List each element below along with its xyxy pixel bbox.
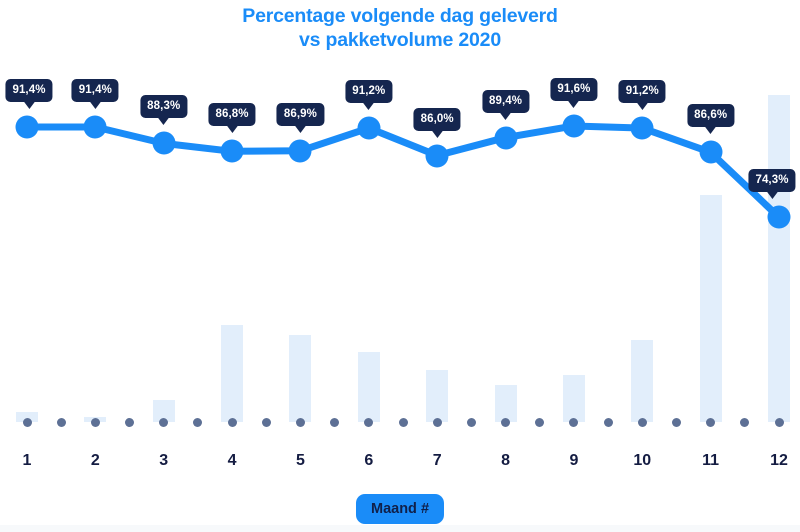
- line-marker-month-5: [289, 139, 312, 162]
- line-marker-month-6: [357, 117, 380, 140]
- value-callout-month-5: 86,9%: [277, 103, 324, 126]
- value-callout-month-1: 91,4%: [5, 79, 52, 102]
- x-tick-2: 2: [91, 452, 100, 470]
- chart-title-line-2: vs pakketvolume 2020: [0, 28, 800, 52]
- value-callout-month-6: 91,2%: [345, 80, 392, 103]
- chart-title: Percentage volgende dag geleverd vs pakk…: [0, 4, 800, 52]
- x-tick-4: 4: [228, 452, 237, 470]
- value-callout-month-12: 74,3%: [748, 169, 795, 192]
- line-marker-month-4: [221, 140, 244, 163]
- line-marker-month-11: [699, 141, 722, 164]
- x-axis-tick-labels: 123456789101112: [0, 452, 800, 476]
- value-callout-month-7: 86,0%: [414, 108, 461, 131]
- x-tick-10: 10: [633, 452, 651, 470]
- x-tick-9: 9: [569, 452, 578, 470]
- value-callout-month-8: 89,4%: [482, 90, 529, 113]
- value-callout-month-2: 91,4%: [72, 79, 119, 102]
- line-marker-month-1: [16, 116, 39, 139]
- value-callout-month-3: 88,3%: [140, 95, 187, 118]
- line-marker-month-3: [152, 132, 175, 155]
- x-tick-6: 6: [364, 452, 373, 470]
- x-tick-8: 8: [501, 452, 510, 470]
- line-marker-month-12: [768, 206, 791, 229]
- x-tick-3: 3: [159, 452, 168, 470]
- x-tick-1: 1: [23, 452, 32, 470]
- line-marker-month-7: [426, 144, 449, 167]
- x-tick-11: 11: [702, 452, 719, 470]
- line-marker-month-10: [631, 117, 654, 140]
- plot-area: 91,4%91,4%88,3%86,8%86,9%91,2%86,0%89,4%…: [0, 60, 800, 430]
- value-callout-month-10: 91,2%: [619, 80, 666, 103]
- chart-container: Percentage volgende dag geleverd vs pakk…: [0, 0, 800, 532]
- bottom-strip: [0, 525, 800, 532]
- chart-title-line-1: Percentage volgende dag geleverd: [0, 4, 800, 28]
- line-marker-month-9: [562, 114, 585, 137]
- line-marker-month-2: [84, 116, 107, 139]
- line-path: [27, 126, 779, 217]
- line-marker-month-8: [494, 126, 517, 149]
- value-callout-month-9: 91,6%: [550, 78, 597, 101]
- line-series-percentage: [0, 60, 800, 430]
- x-tick-7: 7: [433, 452, 442, 470]
- x-axis-legend-badge: Maand #: [356, 494, 444, 524]
- x-tick-5: 5: [296, 452, 305, 470]
- value-callout-month-11: 86,6%: [687, 104, 734, 127]
- x-tick-12: 12: [770, 452, 788, 470]
- value-callout-month-4: 86,8%: [209, 103, 256, 126]
